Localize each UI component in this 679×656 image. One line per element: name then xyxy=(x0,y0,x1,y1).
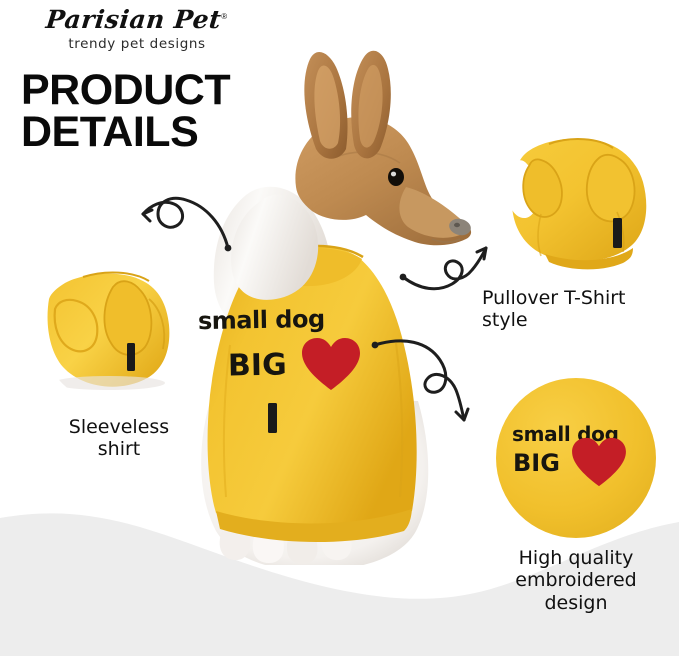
product-details-infographic: Parisian Pet® trendy pet designs PRODUCT… xyxy=(0,0,679,656)
callout-sleeveless-image xyxy=(39,247,199,407)
callout-sleeveless: Sleeveless shirt xyxy=(30,247,208,461)
brand-tagline: trendy pet designs xyxy=(22,36,252,52)
heart-icon xyxy=(570,436,628,488)
callout-embroidery-image: small dog BIG xyxy=(496,378,656,538)
registered-trademark-icon: ® xyxy=(222,13,228,22)
callout-pullover: Pullover T-Shirt style xyxy=(480,112,672,332)
embroidery-badge-line-2: BIG xyxy=(513,449,560,477)
page-title-line-1: PRODUCT xyxy=(21,66,230,114)
callout-embroidery: small dog BIG High quality embroidered d… xyxy=(478,378,674,614)
shirt-graphic-line-2: BIG xyxy=(228,347,287,383)
page-title-line-2: DETAILS xyxy=(21,112,230,154)
brand-name-script: Parisian Pet® xyxy=(45,6,230,34)
callout-embroidery-caption: High quality embroidered design xyxy=(478,547,674,614)
page-title: PRODUCT DETAILS xyxy=(21,70,230,153)
callout-sleeveless-caption: Sleeveless shirt xyxy=(30,416,208,461)
callout-pullover-caption: Pullover T-Shirt style xyxy=(480,287,672,332)
shirt-graphic-line-1: small dog xyxy=(198,305,325,335)
brand-logo: Parisian Pet® trendy pet designs xyxy=(22,6,252,52)
heart-icon xyxy=(300,336,362,392)
brand-name-text: Parisian Pet xyxy=(45,5,223,34)
callout-pullover-image xyxy=(493,112,659,278)
